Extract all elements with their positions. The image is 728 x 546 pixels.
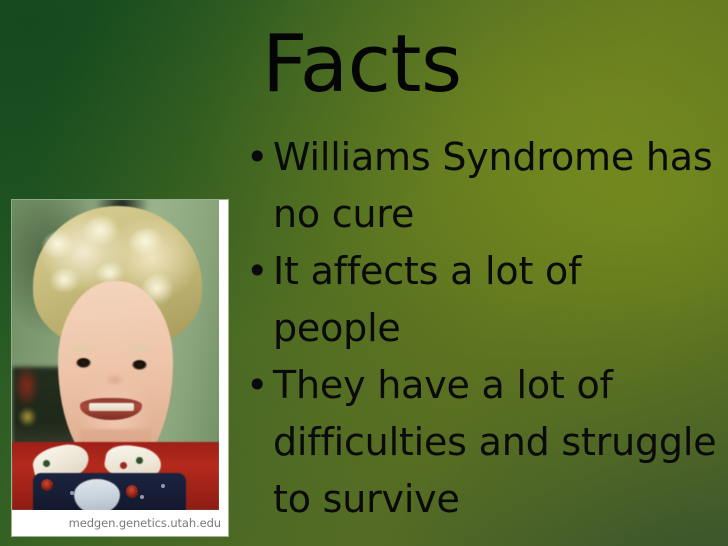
photo-yellow-object [16, 405, 39, 430]
child-teeth [89, 403, 135, 411]
bullet-point-icon: • [246, 243, 268, 300]
overalls-button [126, 485, 138, 497]
child-photo [12, 200, 219, 510]
slide-canvas: Facts • Williams Syndrome has no cure • … [0, 0, 728, 546]
list-item-text: It affects a lot of people [273, 249, 581, 350]
overalls-speckle [161, 484, 165, 488]
child-hand [74, 479, 120, 510]
child-eyebrow-left [72, 346, 95, 351]
child-nose [103, 371, 126, 387]
collar-embroidery [120, 462, 127, 469]
list-item: • It affects a lot of people [240, 243, 718, 357]
bullet-point-icon: • [246, 129, 268, 186]
photo-red-object [12, 361, 41, 411]
hair-curl [82, 216, 128, 256]
photo-caption-bar: medgen.genetics.utah.edu [12, 510, 228, 536]
list-item-text: Williams Syndrome has no cure [273, 135, 712, 236]
child-eyebrow-right [128, 346, 151, 351]
child-eye-right [132, 360, 146, 370]
photo-source-label: medgen.genetics.utah.edu [69, 516, 221, 530]
photo-scene [12, 200, 219, 510]
list-item-text: They have a lot of difficulties and stru… [273, 363, 716, 521]
bullet-point-icon: • [246, 357, 268, 414]
page-title: Facts [262, 25, 462, 104]
bullet-list: • Williams Syndrome has no cure • It aff… [240, 129, 718, 528]
child-eye-left [76, 358, 90, 368]
photo-frame: medgen.genetics.utah.edu [12, 200, 228, 536]
list-item: • Williams Syndrome has no cure [240, 129, 718, 243]
list-item: • They have a lot of difficulties and st… [240, 357, 718, 528]
